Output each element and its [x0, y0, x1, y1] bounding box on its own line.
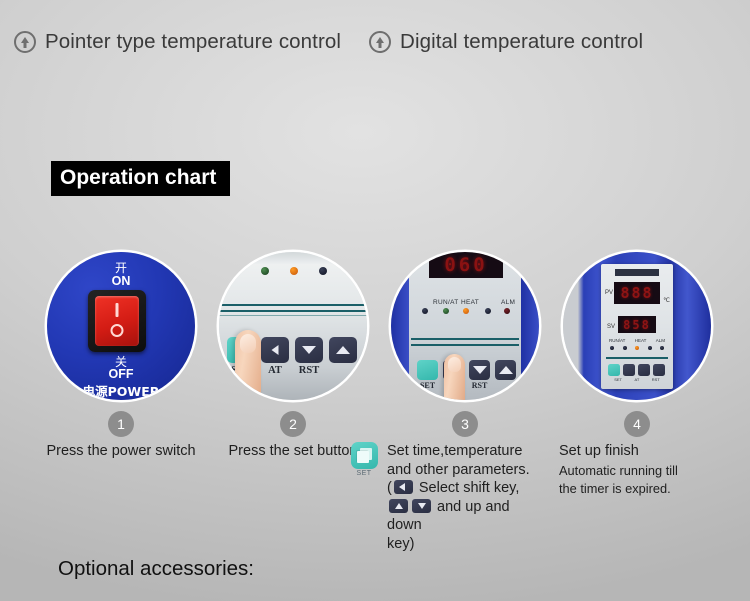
step3-line-3: ( Select shift key, — [387, 479, 547, 498]
panel-stripe — [219, 310, 367, 312]
shift-key[interactable] — [623, 364, 635, 376]
step3-paren-open: ( — [387, 480, 392, 496]
set-icon-square-front — [357, 451, 369, 463]
steps-row: 开 ON 关 OFF 电源POWER 1 Press the power swi… — [0, 252, 750, 552]
optional-accessories-title: Optional accessories: — [58, 557, 254, 581]
set-key[interactable] — [608, 364, 620, 376]
led-red-icon — [504, 308, 510, 314]
arrow-down-icon — [302, 346, 316, 354]
step-4: PV ℃ 888 SV 858 RUN/AT HEAT ALM — [551, 252, 723, 498]
up-key[interactable] — [329, 337, 357, 363]
step-3: 060 RUN/AT HEAT ALM SET — [379, 252, 551, 553]
fingernail — [240, 334, 256, 353]
step4-sub-line-2: the timer is expired. — [559, 481, 719, 498]
step3-line-4: and up and down — [387, 498, 547, 535]
step-caption: Press the power switch — [35, 442, 207, 461]
down-key[interactable]: RST — [469, 360, 490, 380]
operation-chart-banner: Operation chart — [51, 161, 230, 196]
run-at-label: RUN/AT — [433, 299, 459, 306]
key-label-row: SET AT RST — [608, 377, 666, 382]
switch-off-label: OFF — [47, 367, 195, 381]
sv-display: 858 — [618, 316, 656, 333]
heat-label: HEAT — [635, 338, 647, 343]
set-button-icon — [351, 442, 378, 469]
cabinet-edge-right — [521, 252, 539, 400]
photo-parameter-setting: 060 RUN/AT HEAT ALM SET — [391, 252, 539, 400]
led-dark-icon — [319, 267, 327, 275]
led-dark-icon — [422, 308, 428, 314]
step-2: SET AT RST — [207, 252, 379, 461]
arrow-up-icon — [336, 346, 350, 354]
set-key[interactable]: SET — [417, 360, 438, 380]
panel-key-row: SET RST — [417, 360, 517, 380]
finger-pointer — [444, 354, 465, 400]
shift-left-arrow-icon — [272, 345, 279, 355]
step-number-badge: 1 — [108, 411, 134, 437]
panel-stripe — [606, 357, 668, 359]
rst-key-label: RST — [295, 365, 323, 376]
set-key-label: SET — [614, 377, 622, 382]
panel-key-row — [608, 364, 666, 376]
step-number-badge: 2 — [280, 411, 306, 437]
arrow-up-icon — [499, 366, 513, 374]
alm-label: ALM — [656, 338, 665, 343]
up-key[interactable] — [495, 360, 516, 380]
header-bar: Pointer type temperature control Digital… — [0, 22, 750, 62]
seven-segment-display: 060 — [429, 252, 503, 278]
panel-stripe — [219, 304, 367, 306]
indicator-label-row: RUN/AT HEAT ALM — [609, 338, 665, 343]
up-key[interactable] — [653, 364, 665, 376]
pv-label: PV — [605, 290, 613, 296]
led-green-icon — [261, 267, 269, 275]
down-key[interactable]: RST — [295, 337, 323, 363]
led-dark-icon — [648, 346, 652, 350]
cabinet-edge-left — [391, 252, 409, 400]
step3-line-2: and other parameters. — [387, 461, 547, 480]
shift-key-icon — [394, 480, 413, 494]
inline-set-icon-label: SET — [347, 470, 381, 477]
down-key-icon — [412, 499, 431, 513]
circle-arrow-up-icon — [369, 31, 391, 53]
shift-left-arrow-icon — [399, 483, 405, 491]
rocker-switch[interactable] — [88, 290, 146, 352]
arrow-down-icon — [418, 503, 426, 509]
step4-sub-line-1: Automatic running till — [559, 463, 719, 480]
photo-set-button: SET AT RST — [219, 252, 367, 400]
step3-line-3-text: Select shift key, — [419, 480, 519, 496]
rst-key-label: RST — [469, 381, 490, 390]
panel-stripe — [411, 338, 519, 340]
power-off-mark-icon — [111, 324, 124, 337]
step-number-badge: 4 — [624, 411, 650, 437]
photo-power-switch: 开 ON 关 OFF 电源POWER — [47, 252, 195, 400]
arrow-up-icon — [395, 503, 403, 509]
photo-controller-unit: PV ℃ 888 SV 858 RUN/AT HEAT ALM — [563, 252, 711, 400]
rocker-key — [95, 296, 139, 346]
led-dark-icon — [485, 308, 491, 314]
page-root: Pointer type temperature control Digital… — [0, 0, 750, 601]
heat-label: HEAT — [461, 299, 479, 306]
arrow-down-icon — [473, 366, 487, 374]
step-1: 开 ON 关 OFF 电源POWER 1 Press the power swi… — [35, 252, 207, 461]
power-label: 电源POWER — [47, 381, 195, 400]
step-number-badge: 3 — [452, 411, 478, 437]
inline-set-icon-wrap: SET — [347, 442, 381, 477]
step4-title: Set up finish — [559, 442, 719, 461]
rst-key-label: RST — [652, 377, 660, 382]
led-orange-icon — [463, 308, 469, 314]
header-item-label: Pointer type temperature control — [45, 30, 341, 54]
run-at-label: RUN/AT — [609, 338, 625, 343]
led-green-icon — [443, 308, 449, 314]
led-orange-icon — [635, 346, 639, 350]
circle-arrow-up-icon — [14, 31, 36, 53]
shift-key[interactable]: AT — [261, 337, 289, 363]
power-on-mark-icon — [116, 303, 119, 317]
panel-top-strip — [219, 252, 367, 264]
switch-on-label: ON — [47, 274, 195, 288]
fingernail — [448, 357, 461, 372]
header-item-label: Digital temperature control — [400, 30, 643, 54]
led-orange-icon — [290, 267, 298, 275]
step3-line-1: Set time,temperature — [387, 442, 547, 461]
step3-line-5: key) — [387, 535, 547, 554]
temperature-controller: PV ℃ 888 SV 858 RUN/AT HEAT ALM — [601, 264, 673, 389]
pv-display: 888 — [614, 282, 660, 304]
header-item-digital[interactable]: Digital temperature control — [369, 30, 643, 54]
step-caption: Set time,temperature and other parameter… — [379, 442, 551, 553]
led-dark-icon — [660, 346, 664, 350]
controller-brand-plate — [615, 269, 659, 276]
panel-stripe — [219, 315, 367, 316]
alm-label: ALM — [501, 299, 515, 306]
down-key[interactable] — [638, 364, 650, 376]
set-key-label: SET — [417, 381, 438, 390]
finger-pointer — [235, 330, 261, 400]
up-key-icon — [389, 499, 408, 513]
header-item-pointer-type[interactable]: Pointer type temperature control — [14, 30, 341, 54]
led-dark-icon — [623, 346, 627, 350]
unit-label: ℃ — [663, 297, 670, 304]
indicator-led-row — [610, 346, 664, 350]
at-key-label: AT — [261, 365, 289, 376]
sv-label: SV — [607, 324, 615, 330]
step-caption: Set up finish Automatic running till the… — [551, 442, 723, 498]
led-dark-icon — [610, 346, 614, 350]
at-key-label: AT — [634, 377, 639, 382]
panel-stripe — [411, 344, 519, 346]
